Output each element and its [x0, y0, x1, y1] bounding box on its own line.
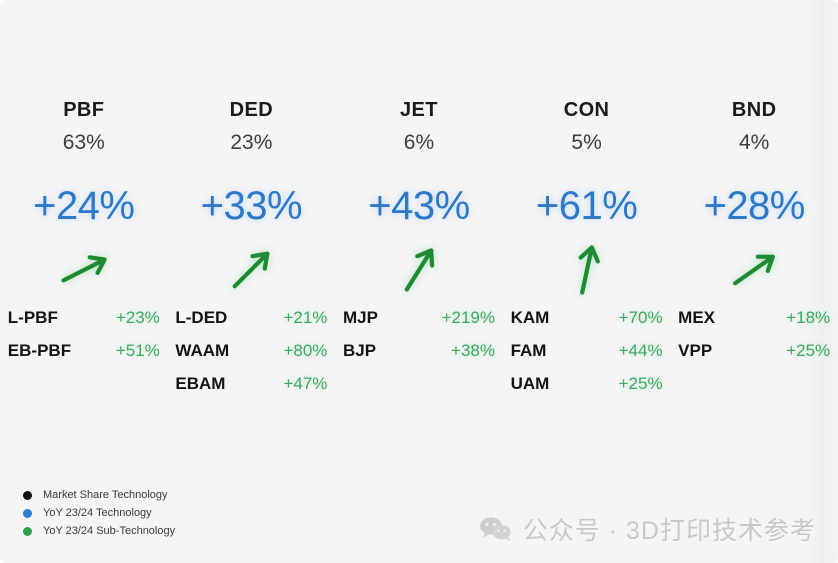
legend-item-label: YoY 23/24 Sub-Technology — [43, 526, 175, 537]
sub-technology-row: KAM+70% — [511, 308, 663, 341]
sub-technology-code: VPP — [678, 341, 786, 361]
technology-yoy-growth: +43% — [368, 186, 469, 226]
watermark: 公众号 · 3D打印技术参考 — [479, 511, 816, 547]
legend-dot-black-icon — [23, 491, 32, 500]
legend-item-label: Market Share Technology — [43, 490, 168, 501]
wechat-icon — [479, 516, 513, 542]
sub-technology-code: BJP — [343, 341, 451, 361]
technology-column-jet: JET6%+43%MJP+219%BJP+38% — [335, 0, 503, 470]
sub-technology-row: MJP+219% — [343, 308, 495, 341]
technology-columns: PBF63%+24%L-PBF+23%EB-PBF+51%DED23%+33%L… — [0, 0, 838, 470]
sub-technology-code: WAAM — [175, 341, 283, 361]
sub-technology-yoy-growth: +70% — [619, 308, 663, 328]
sub-technology-row: EBAM+47% — [175, 374, 327, 407]
sub-technology-code: EBAM — [175, 374, 283, 394]
technology-column-pbf: PBF63%+24%L-PBF+23%EB-PBF+51% — [0, 0, 168, 470]
sub-technology-code: L-DED — [175, 308, 283, 328]
sub-technology-row: MEX+18% — [678, 308, 830, 341]
technology-market-share: 5% — [571, 132, 601, 153]
sub-technology-yoy-growth: +25% — [619, 374, 663, 394]
sub-technology-row: WAAM+80% — [175, 341, 327, 374]
growth-arrow-wrapper — [719, 244, 789, 296]
arrow-up-right-icon — [216, 244, 286, 296]
sub-technology-yoy-growth: +21% — [283, 308, 327, 328]
sub-technology-code: FAM — [511, 341, 619, 361]
sub-technology-list: L-PBF+23%EB-PBF+51% — [0, 308, 168, 374]
sub-technology-yoy-growth: +219% — [442, 308, 495, 328]
sub-technology-yoy-growth: +23% — [116, 308, 160, 328]
legend-item: YoY 23/24 Sub-Technology — [16, 523, 175, 539]
arrow-up-icon — [552, 244, 622, 296]
sub-technology-code: UAM — [511, 374, 619, 394]
technology-column-bnd: BND4%+28%MEX+18%VPP+25% — [670, 0, 838, 470]
legend-item: Market Share Technology — [16, 487, 175, 503]
watermark-text: 公众号 · 3D打印技术参考 — [523, 511, 816, 547]
sub-technology-yoy-growth: +80% — [283, 341, 327, 361]
growth-arrow-wrapper — [384, 244, 454, 296]
technology-market-share: 4% — [739, 132, 769, 153]
sub-technology-row: VPP+25% — [678, 341, 830, 374]
technology-yoy-growth: +61% — [536, 186, 637, 226]
sub-technology-yoy-growth: +44% — [619, 341, 663, 361]
sub-technology-row: BJP+38% — [343, 341, 495, 374]
growth-arrow-wrapper — [49, 244, 119, 296]
sub-technology-code: EB-PBF — [8, 341, 116, 361]
sub-technology-code: MJP — [343, 308, 442, 328]
technology-code: JET — [400, 100, 438, 120]
legend-dot-blue-icon — [23, 509, 32, 518]
sub-technology-row: EB-PBF+51% — [8, 341, 160, 374]
technology-yoy-growth: +33% — [201, 186, 302, 226]
infographic-canvas: PBF63%+24%L-PBF+23%EB-PBF+51%DED23%+33%L… — [0, 0, 838, 563]
sub-technology-row: FAM+44% — [511, 341, 663, 374]
sub-technology-list: L-DED+21%WAAM+80%EBAM+47% — [168, 308, 336, 407]
sub-technology-code: L-PBF — [8, 308, 116, 328]
legend-dot-green-icon — [23, 527, 32, 536]
sub-technology-list: MEX+18%VPP+25% — [670, 308, 838, 374]
technology-code: BND — [732, 100, 777, 120]
sub-technology-row: L-DED+21% — [175, 308, 327, 341]
arrow-up-right-shallow-icon — [49, 244, 119, 296]
sub-technology-yoy-growth: +51% — [116, 341, 160, 361]
arrow-up-right-steep-icon — [384, 244, 454, 296]
legend: Market Share TechnologyYoY 23/24 Technol… — [16, 487, 175, 539]
technology-yoy-growth: +28% — [703, 186, 804, 226]
sub-technology-row: UAM+25% — [511, 374, 663, 407]
sub-technology-code: KAM — [511, 308, 619, 328]
sub-technology-yoy-growth: +38% — [451, 341, 495, 361]
arrow-up-right-shallow-icon — [719, 244, 789, 296]
sub-technology-yoy-growth: +25% — [786, 341, 830, 361]
technology-code: CON — [564, 100, 610, 120]
technology-market-share: 23% — [230, 132, 272, 153]
sub-technology-yoy-growth: +47% — [283, 374, 327, 394]
growth-arrow-wrapper — [216, 244, 286, 296]
technology-column-con: CON5%+61%KAM+70%FAM+44%UAM+25% — [503, 0, 671, 470]
sub-technology-list: KAM+70%FAM+44%UAM+25% — [503, 308, 671, 407]
sub-technology-list: MJP+219%BJP+38% — [335, 308, 503, 374]
sub-technology-row: L-PBF+23% — [8, 308, 160, 341]
legend-item-label: YoY 23/24 Technology — [43, 508, 152, 519]
sub-technology-code: MEX — [678, 308, 786, 328]
technology-code: DED — [230, 100, 273, 120]
sub-technology-yoy-growth: +18% — [786, 308, 830, 328]
legend-item: YoY 23/24 Technology — [16, 505, 175, 521]
technology-column-ded: DED23%+33%L-DED+21%WAAM+80%EBAM+47% — [168, 0, 336, 470]
growth-arrow-wrapper — [552, 244, 622, 296]
technology-yoy-growth: +24% — [33, 186, 134, 226]
technology-market-share: 63% — [63, 132, 105, 153]
technology-code: PBF — [63, 100, 104, 120]
technology-market-share: 6% — [404, 132, 434, 153]
